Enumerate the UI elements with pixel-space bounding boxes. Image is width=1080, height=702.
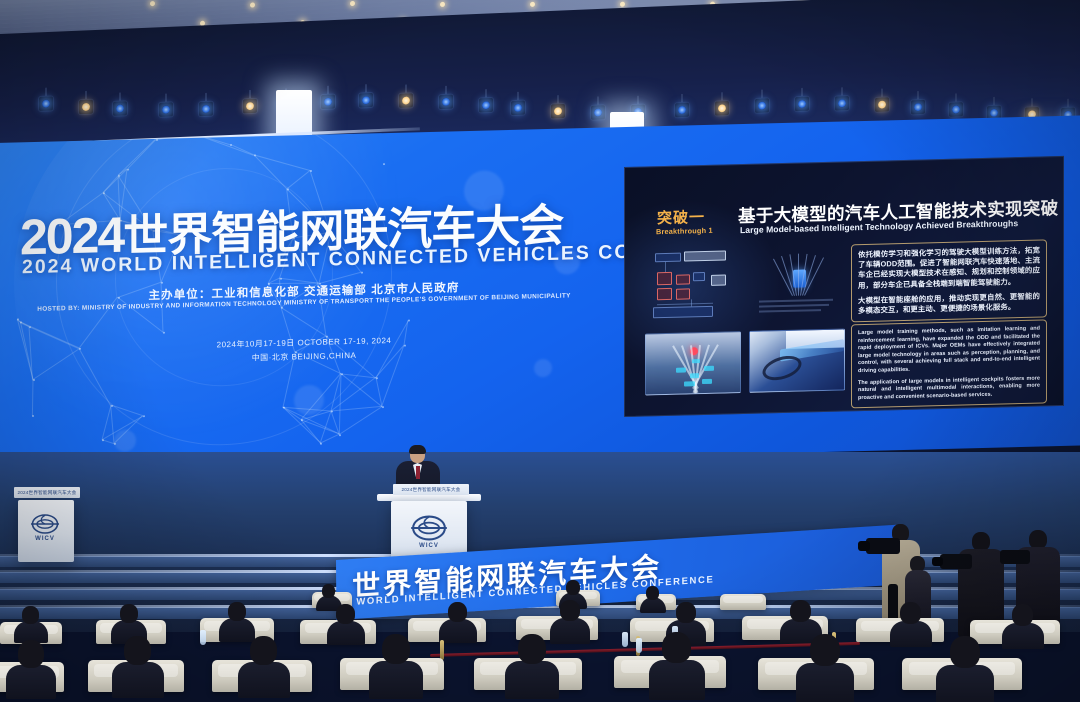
- light-bokeh: [534, 359, 552, 377]
- slide-paragraph-en-1: Large model training methods, such as im…: [858, 326, 1040, 376]
- audience-head: [120, 604, 138, 623]
- audience-shoulders: [890, 621, 932, 647]
- video-camera: [866, 538, 900, 554]
- slide-text-box-cn: 依托模仿学习和强化学习的驾驶大模型训练方法，拓宽了车辆ODD范围。促进了智能网联…: [851, 239, 1047, 322]
- detection-box: [690, 373, 699, 378]
- audience-head: [22, 606, 39, 624]
- podium-left-sign-text: 2024世界智能网联汽车大会: [18, 490, 77, 496]
- water-bottle: [622, 632, 628, 647]
- autonomous-driving-photo: [645, 331, 741, 395]
- audience-shoulders: [327, 621, 365, 645]
- stage-light-fixture: [358, 84, 374, 111]
- audience-head: [950, 636, 980, 668]
- wicv-logo-center-label: WICV: [419, 543, 439, 549]
- road-lane-line: [798, 254, 799, 296]
- stage-light-fixture: [112, 92, 128, 119]
- water-bottle: [200, 630, 206, 645]
- road-scenario-diagram: [753, 247, 843, 319]
- podium-left: 2024世界智能网联汽车大会 WICV: [8, 487, 82, 565]
- stage-light-fixture: [948, 93, 964, 120]
- video-camera: [940, 554, 972, 569]
- wicv-logo-left-label: WICV: [35, 536, 55, 542]
- speaker-tie: [416, 466, 420, 479]
- mesh-edge: [31, 380, 33, 416]
- stage-light-fixture: [834, 87, 850, 114]
- slide-figure-area: [645, 244, 845, 399]
- audience-shoulders: [219, 618, 255, 642]
- podium-left-sign: 2024世界智能网联汽车大会: [14, 487, 80, 498]
- slide-paragraph-en-2: The application of large models in intel…: [858, 375, 1040, 402]
- audience-head: [646, 586, 659, 600]
- audience-head: [810, 634, 840, 666]
- audience-shoulders: [1002, 623, 1044, 649]
- audience-head: [322, 584, 335, 598]
- audience-shoulders: [369, 661, 423, 699]
- wicv-logo-center: WICV: [409, 514, 449, 549]
- stage-light-fixture: [874, 88, 890, 115]
- audience-head: [18, 640, 44, 668]
- audience-shoulders: [112, 662, 164, 698]
- audience-shoulders: [796, 663, 854, 702]
- wicv-logo-left: WICV: [30, 513, 60, 542]
- presentation-slide: 突破一 Breakthrough 1 基于大模型的汽车人工智能技术实现突破 La…: [624, 156, 1064, 417]
- stage-light-fixture: [550, 94, 566, 121]
- stage-light-fixture: [510, 92, 526, 119]
- stage-light-fixture: [754, 89, 770, 116]
- podium-center-sign: 2024世界智能网联汽车大会: [393, 484, 469, 495]
- audience-head: [1012, 604, 1033, 626]
- wicv-emblem-icon: [30, 513, 60, 535]
- camera-lens-icon: [932, 557, 943, 566]
- mesh-node: [383, 163, 385, 165]
- detection-box: [684, 381, 695, 386]
- audience-shoulders: [649, 660, 705, 700]
- conference-hall-photo: 2024世界智能网联汽车大会 2024 WORLD INTELLIGENT CO…: [0, 0, 1080, 702]
- speaker-hair: [409, 445, 426, 454]
- detection-box: [692, 359, 700, 363]
- wicv-emblem-icon: [409, 514, 449, 542]
- audience-head: [228, 602, 246, 621]
- camera-lens-icon: [858, 541, 870, 551]
- stage-light-fixture: [398, 84, 414, 111]
- podium-center-top: [377, 494, 481, 501]
- podium-center-sign-text: 2024世界智能网联汽车大会: [402, 487, 461, 493]
- audience-head: [382, 634, 410, 664]
- intelligent-cockpit-photo: [749, 328, 845, 392]
- audience-head: [336, 604, 355, 624]
- stage-light-fixture: [478, 89, 494, 116]
- audience-head: [250, 636, 277, 665]
- stage-light-fixture: [910, 90, 926, 117]
- audience-chair: [720, 594, 766, 610]
- stage-light-fixture: [242, 90, 258, 117]
- detection-box: [676, 367, 686, 372]
- led-backdrop-wall: 2024世界智能网联汽车大会 2024 WORLD INTELLIGENT CO…: [0, 115, 1080, 473]
- detection-box: [704, 366, 714, 371]
- audience-head: [790, 600, 811, 622]
- audience-head: [124, 636, 151, 665]
- audience-shoulders: [439, 619, 477, 643]
- slide-breakthrough-tag-en: Breakthrough 1: [656, 226, 713, 236]
- video-camera: [1000, 550, 1030, 564]
- audience-shoulders: [505, 661, 559, 699]
- audience-head: [448, 602, 467, 622]
- water-bottle: [636, 638, 642, 653]
- detection-box: [702, 379, 712, 384]
- stage-light-fixture: [38, 87, 54, 114]
- audience-head: [518, 634, 546, 664]
- audience-shoulders: [550, 618, 590, 644]
- stage-light-fixture: [674, 94, 690, 121]
- audience-shoulders: [6, 665, 56, 699]
- audience-shoulders: [238, 662, 290, 698]
- audience-shoulders: [936, 665, 994, 702]
- stage-light-fixture: [714, 92, 730, 119]
- slide-text-box-en: Large model training methods, such as im…: [851, 319, 1047, 408]
- stage-light-fixture: [158, 93, 174, 120]
- stanchion-rope: [430, 642, 860, 657]
- slide-paragraph-cn-1: 依托模仿学习和强化学习的驾驶大模型训练方法，拓宽了车辆ODD范围。促进了智能网联…: [858, 246, 1040, 291]
- stage-light-fixture: [438, 86, 454, 113]
- audience-head: [566, 580, 580, 595]
- audience-head: [662, 632, 691, 663]
- stage-light-fixture: [794, 87, 810, 114]
- audience-head: [676, 602, 696, 623]
- audience-head: [900, 602, 921, 624]
- stage-light-fixture: [198, 92, 214, 119]
- stage-light-fixture: [320, 86, 336, 113]
- audience-head: [560, 600, 580, 621]
- stage-light-fixture: [590, 96, 606, 123]
- stage-light-fixture: [78, 90, 94, 117]
- slide-breakthrough-tag-cn: 突破一: [657, 206, 705, 228]
- slide-paragraph-cn-2: 大模型在智能座舱的应用，推动实现更自然、更智能的多模态交互，和更主动、更便捷的场…: [858, 291, 1040, 316]
- stanchion-post: [440, 640, 444, 660]
